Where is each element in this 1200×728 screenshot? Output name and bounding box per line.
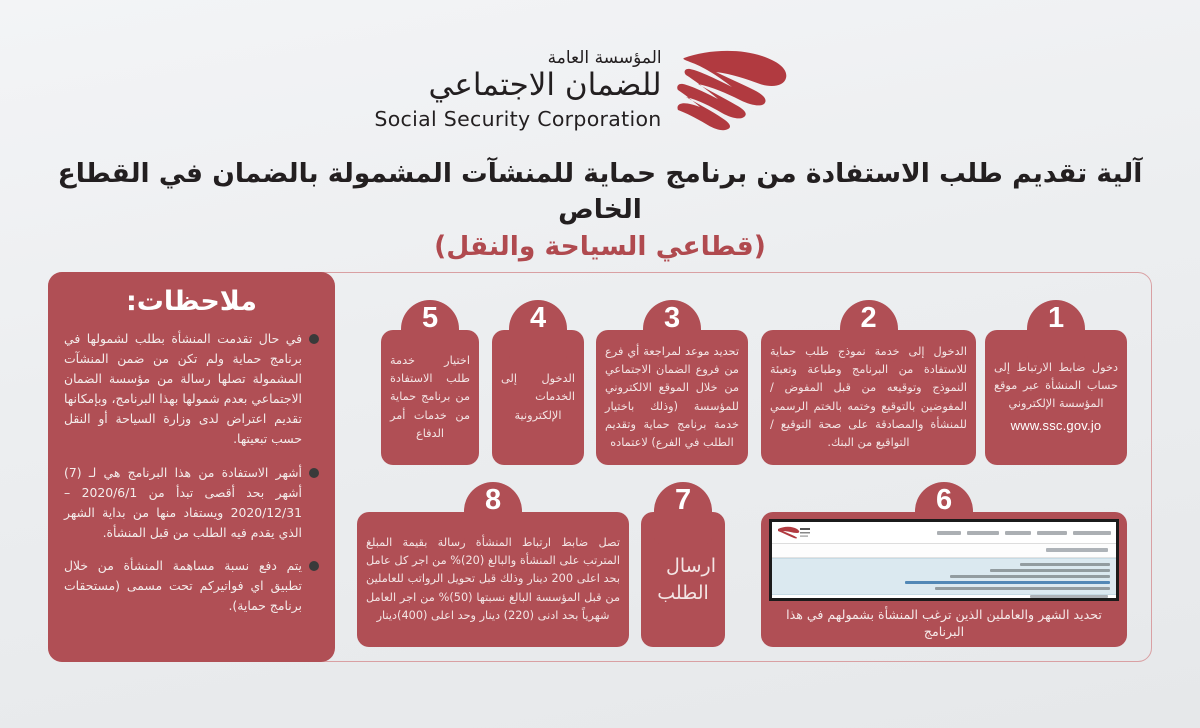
step-body: تحديد موعد لمراجعة أي فرع من فروع الضمان…	[596, 330, 748, 465]
step-text: دخول ضابط الارتباط إلى حساب المنشأة عبر …	[994, 361, 1118, 411]
screenshot-instructions-panel	[772, 558, 1116, 595]
notes-heading: ملاحظات:	[64, 286, 319, 317]
logo-english: Social Security Corporation	[374, 107, 661, 132]
step-text: تحديد موعد لمراجعة أي فرع من فروع الضمان…	[605, 343, 739, 453]
page-header: المؤسسة العامة للضمان الاجتماعي Social S…	[0, 0, 1200, 150]
step-body: دخول ضابط الارتباط إلى حساب المنشأة عبر …	[985, 330, 1127, 465]
step-card-4: 4 الدخول إلى الخدمات الإلكترونية	[492, 330, 584, 465]
instruction-line	[905, 581, 1110, 584]
step-text: اختيار خدمة طلب الاستفادة من برنامج حماي…	[390, 352, 470, 443]
step-card-6: 6	[761, 512, 1127, 647]
nav-placeholder	[937, 531, 961, 535]
page-title-subtitle: (قطاعي السياحة والنقل)	[40, 228, 1160, 266]
logo-wordmark: المؤسسة العامة للضمان الاجتماعي Social S…	[374, 49, 661, 132]
instruction-line	[1020, 563, 1110, 566]
step-card-7: 7 ارسال الطلب	[641, 512, 725, 647]
step-number: 4	[530, 304, 546, 333]
notes-card: ملاحظات: في حال تقدمت المنشأة بطلب لشمول…	[48, 272, 335, 662]
step-body: اختيار خدمة طلب الاستفادة من برنامج حماي…	[381, 330, 479, 465]
step-text: الدخول إلى الخدمات الإلكترونية	[501, 370, 575, 425]
screenshot-content	[772, 544, 1116, 598]
footer-link-placeholder	[1030, 595, 1108, 598]
step-number: 1	[1048, 304, 1064, 333]
step-caption: تحديد الشهر والعاملين الذين ترغب المنشأة…	[769, 606, 1119, 641]
logo-arabic-line2: للضمان الاجتماعي	[429, 68, 662, 104]
bullet-icon	[309, 561, 319, 571]
step-body: ارسال الطلب	[641, 512, 725, 647]
step-card-5: 5 اختيار خدمة طلب الاستفادة من برنامج حم…	[381, 330, 479, 465]
note-text: أشهر الاستفادة من هذا البرنامج هي لـ (7)…	[64, 463, 302, 543]
step-card-2: 2 الدخول إلى خدمة نموذج طلب حماية للاستف…	[761, 330, 976, 465]
nav-placeholder	[967, 531, 999, 535]
step-text: الدخول إلى خدمة نموذج طلب حماية للاستفاد…	[770, 343, 967, 453]
ssc-logo: المؤسسة العامة للضمان الاجتماعي Social S…	[374, 44, 825, 136]
step-text-wrap: دخول ضابط الارتباط إلى حساب المنشأة عبر …	[994, 359, 1118, 437]
instruction-line	[990, 569, 1110, 572]
step-body: الدخول إلى الخدمات الإلكترونية	[492, 330, 584, 465]
page-title-main: آلية تقديم طلب الاستفادة من برنامج حماية…	[40, 156, 1160, 228]
instruction-line	[935, 587, 1110, 590]
bullet-icon	[309, 468, 319, 478]
note-text: يتم دفع نسبة مساهمة المنشأة من خلال تطبي…	[64, 556, 302, 616]
ssc-bird-logo-icon	[676, 44, 826, 136]
step-number: 5	[422, 304, 438, 333]
screenshot-section-title	[772, 544, 1116, 558]
ssc-website-url[interactable]: www.ssc.gov.jo	[994, 415, 1118, 436]
instruction-line	[950, 575, 1110, 578]
step-text: ارسال الطلب	[650, 553, 716, 606]
logo-arabic-line1: المؤسسة العامة	[548, 49, 662, 68]
screenshot-ssc-logo-icon	[777, 525, 811, 540]
step-card-8: 8 تصل ضابط ارتباط المنشأة رسالة بقيمة ال…	[357, 512, 629, 647]
note-text: في حال تقدمت المنشأة بطلب لشمولها في برن…	[64, 329, 302, 450]
step-body: تحديد الشهر والعاملين الذين ترغب المنشأة…	[761, 512, 1127, 647]
step-text: تصل ضابط ارتباط المنشأة رسالة بقيمة المب…	[366, 534, 620, 625]
step-number: 7	[675, 486, 691, 515]
ssc-portal-screenshot	[769, 519, 1119, 601]
note-item: في حال تقدمت المنشأة بطلب لشمولها في برن…	[64, 329, 319, 450]
step-number: 6	[936, 486, 952, 515]
step-card-3: 3 تحديد موعد لمراجعة أي فرع من فروع الضم…	[596, 330, 748, 465]
nav-placeholder	[1073, 531, 1111, 535]
screenshot-navbar	[772, 522, 1116, 544]
section-title-placeholder	[1046, 548, 1108, 552]
bullet-icon	[309, 334, 319, 344]
nav-placeholder	[1005, 531, 1031, 535]
step-body: الدخول إلى خدمة نموذج طلب حماية للاستفاد…	[761, 330, 976, 465]
note-item: أشهر الاستفادة من هذا البرنامج هي لـ (7)…	[64, 463, 319, 543]
page-title: آلية تقديم طلب الاستفادة من برنامج حماية…	[0, 150, 1200, 266]
step-number: 3	[664, 304, 680, 333]
note-item: يتم دفع نسبة مساهمة المنشأة من خلال تطبي…	[64, 556, 319, 616]
screenshot-footer	[772, 595, 1116, 598]
step-number: 8	[485, 486, 501, 515]
step-number: 2	[860, 304, 876, 333]
step-card-1: 1 دخول ضابط الارتباط إلى حساب المنشأة عب…	[985, 330, 1127, 465]
nav-placeholder	[1037, 531, 1067, 535]
step-body: تصل ضابط ارتباط المنشأة رسالة بقيمة المب…	[357, 512, 629, 647]
